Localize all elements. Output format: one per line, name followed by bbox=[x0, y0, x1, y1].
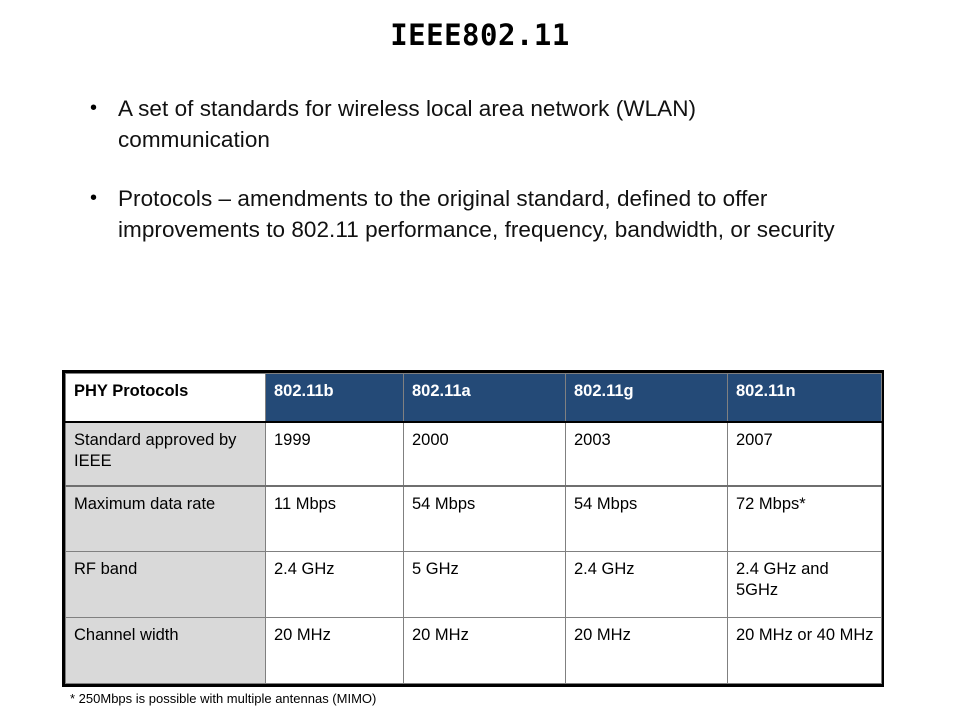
table-cell: 2000 bbox=[404, 422, 566, 486]
table-footnote: * 250Mbps is possible with multiple ante… bbox=[70, 690, 376, 707]
row-label-rf-band: RF band bbox=[66, 552, 266, 618]
slide-canvas: IEEE802.11 • A set of standards for wire… bbox=[0, 0, 960, 720]
row-label-channel-width: Channel width bbox=[66, 618, 266, 684]
table-row: Standard approved by IEEE 1999 2000 2003… bbox=[66, 422, 882, 486]
table-cell: 11 Mbps bbox=[266, 486, 404, 552]
table-cell: 2.4 GHz bbox=[266, 552, 404, 618]
table-cell: 54 Mbps bbox=[404, 486, 566, 552]
table-cell: 20 MHz bbox=[404, 618, 566, 684]
table-cell: 2.4 GHz and 5GHz bbox=[728, 552, 882, 618]
row-label-maximum-data-rate: Maximum data rate bbox=[66, 486, 266, 552]
table-header-80211g: 802.11g bbox=[566, 374, 728, 422]
table-header-80211a: 802.11a bbox=[404, 374, 566, 422]
table-header-80211n: 802.11n bbox=[728, 374, 882, 422]
phy-protocols-table: PHY Protocols 802.11b 802.11a 802.11g 80… bbox=[62, 370, 884, 687]
bullet-list: • A set of standards for wireless local … bbox=[86, 93, 886, 273]
table-cell: 72 Mbps* bbox=[728, 486, 882, 552]
table-row: Maximum data rate 11 Mbps 54 Mbps 54 Mbp… bbox=[66, 486, 882, 552]
table-cell: 54 Mbps bbox=[566, 486, 728, 552]
bullet-point-icon: • bbox=[86, 183, 118, 214]
table-cell: 2003 bbox=[566, 422, 728, 486]
row-label-standard-approved: Standard approved by IEEE bbox=[66, 422, 266, 486]
table-cell: 20 MHz bbox=[266, 618, 404, 684]
table-cell: 5 GHz bbox=[404, 552, 566, 618]
table-cell: 20 MHz or 40 MHz bbox=[728, 618, 882, 684]
table-row: Channel width 20 MHz 20 MHz 20 MHz 20 MH… bbox=[66, 618, 882, 684]
page-title: IEEE802.11 bbox=[0, 18, 960, 52]
table-header-row: PHY Protocols 802.11b 802.11a 802.11g 80… bbox=[66, 374, 882, 422]
bullet-text: Protocols – amendments to the original s… bbox=[118, 183, 848, 245]
bullet-text: A set of standards for wireless local ar… bbox=[118, 93, 818, 155]
list-item: • Protocols – amendments to the original… bbox=[86, 183, 886, 245]
table-row: RF band 2.4 GHz 5 GHz 2.4 GHz 2.4 GHz an… bbox=[66, 552, 882, 618]
table-cell: 2007 bbox=[728, 422, 882, 486]
list-item: • A set of standards for wireless local … bbox=[86, 93, 886, 155]
table-cell: 2.4 GHz bbox=[566, 552, 728, 618]
bullet-point-icon: • bbox=[86, 93, 118, 124]
table-header-80211b: 802.11b bbox=[266, 374, 404, 422]
table-cell: 20 MHz bbox=[566, 618, 728, 684]
table-cell: 1999 bbox=[266, 422, 404, 486]
table-header-phy-protocols: PHY Protocols bbox=[66, 374, 266, 422]
